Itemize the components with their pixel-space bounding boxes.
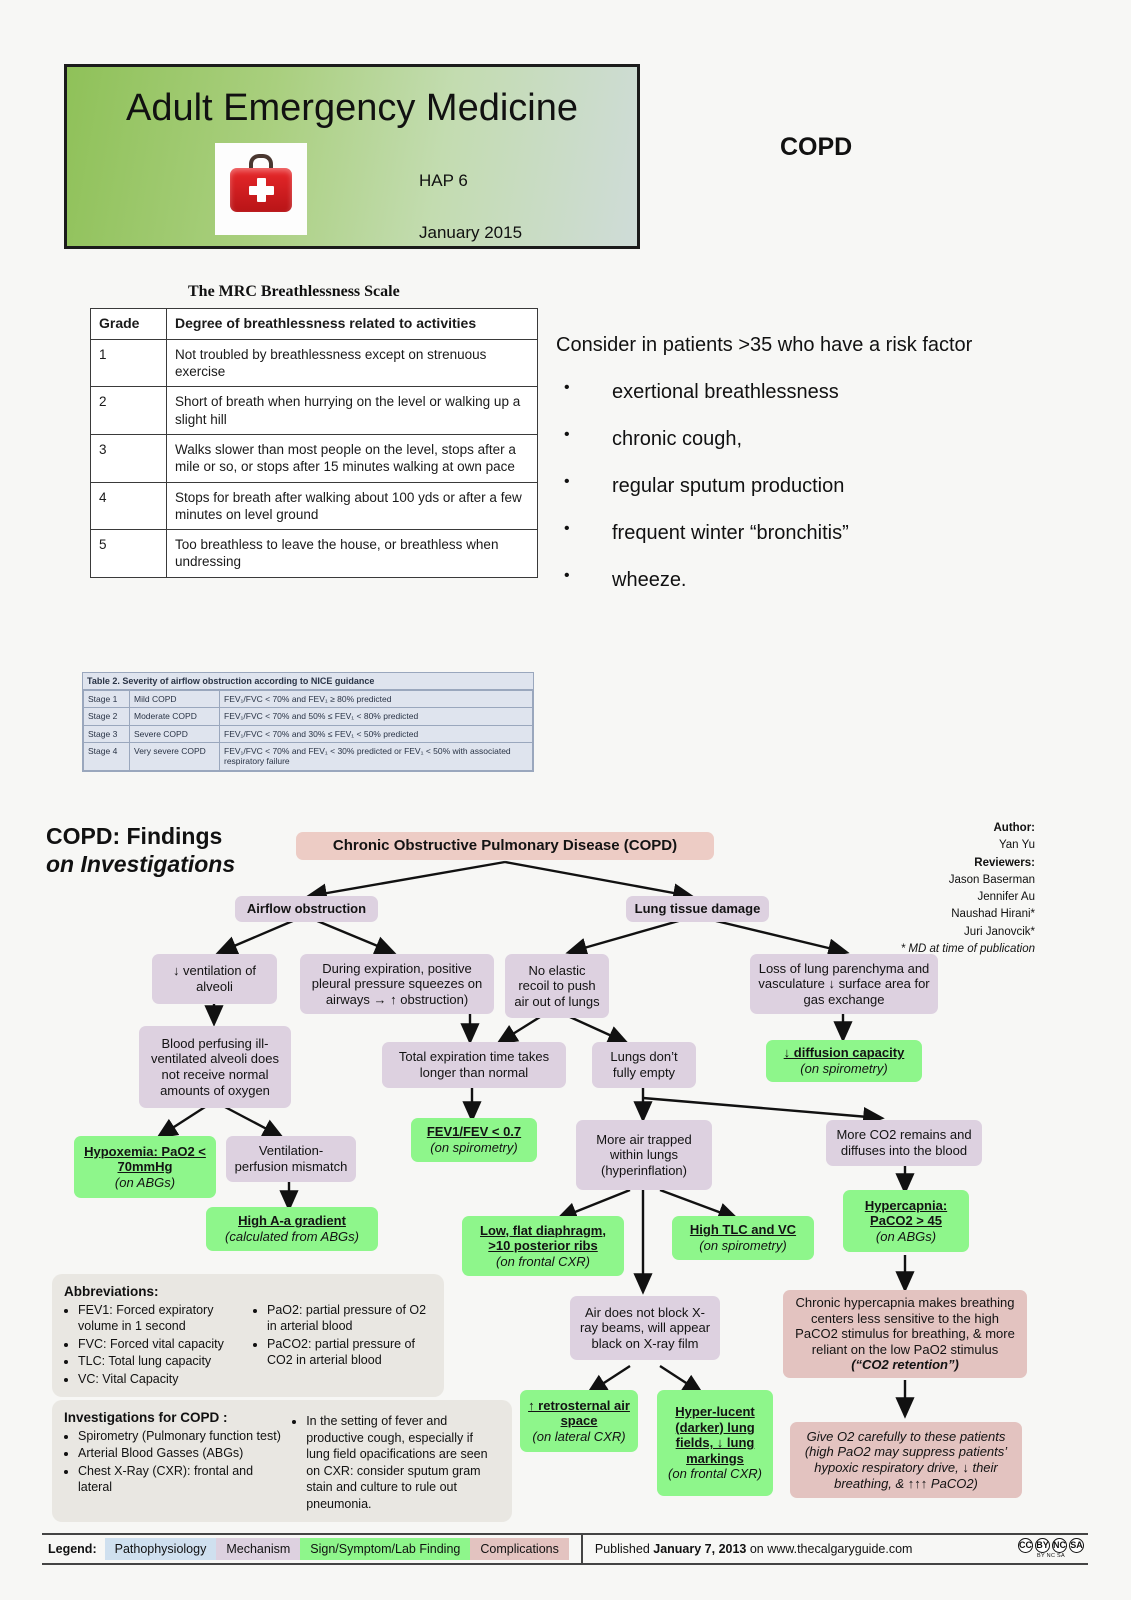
legend-chip-pathophysiology: Pathophysiology: [105, 1538, 217, 1560]
node-expiration-pleural-pressure: During expiration, positive pleural pres…: [300, 954, 494, 1014]
abbreviations-list-left: FEV1: Forced expiratory volume in 1 seco…: [64, 1302, 243, 1388]
node-hypercapnia-label: Hypercapnia: PaCO2 > 45: [851, 1198, 961, 1229]
node-diffusion-capacity: ↓ diffusion capacity (on spirometry): [766, 1040, 922, 1082]
cell-degree: Too breathless to leave the house, or br…: [167, 530, 538, 578]
cell-stage: Stage 4: [84, 743, 130, 771]
nice-table-caption: Table 2. Severity of airflow obstruction…: [83, 673, 533, 690]
consider-intro: Consider in patients >35 who have a risk…: [556, 335, 1026, 355]
cell-degree: Not troubled by breathlessness except on…: [167, 339, 538, 387]
mrc-breathlessness-table: Grade Degree of breathlessness related t…: [90, 308, 538, 578]
node-diffusion-capacity-label: ↓ diffusion capacity: [784, 1045, 905, 1061]
reviewer-name: Jason Baserman: [949, 874, 1035, 886]
column-header-grade: Grade: [91, 309, 167, 340]
publication-note: Published January 7, 2013 on www.thecalg…: [595, 1542, 913, 1556]
node-retrosternal-sub: (on lateral CXR): [532, 1429, 625, 1445]
node-vq-mismatch: Ventilation-perfusion mismatch: [226, 1136, 356, 1182]
cell-severity: Severe COPD: [130, 725, 220, 742]
cell-criteria: FEV₁/FVC < 70% and 50% ≤ FEV₁ < 80% pred…: [220, 708, 533, 725]
cell-degree: Walks slower than most people on the lev…: [167, 434, 538, 482]
abbreviations-box: Abbreviations: FEV1: Forced expiratory v…: [52, 1274, 444, 1397]
table-row: 1 Not troubled by breathlessness except …: [91, 339, 538, 387]
node-retrosternal-label: ↑ retrosternal air space: [528, 1398, 630, 1429]
node-fev-ratio-label: FEV1/FEV < 0.7: [427, 1124, 521, 1140]
node-a-a-gradient: High A-a gradient (calculated from ABGs): [206, 1207, 378, 1251]
legend-divider: [581, 1533, 583, 1565]
publication-prefix: Published: [595, 1542, 653, 1556]
mrc-table-title: The MRC Breathlessness Scale: [188, 283, 400, 301]
table-row: 2 Short of breath when hurrying on the l…: [91, 387, 538, 435]
poster-page: Adult Emergency Medicine HAP 6 January 2…: [0, 0, 1131, 1600]
node-no-elastic-recoil: No elastic recoil to push air out of lun…: [505, 954, 609, 1018]
legend-label: Legend:: [42, 1542, 105, 1556]
legend-chip-mechanism: Mechanism: [216, 1538, 300, 1560]
cc-badge: CC: [1018, 1538, 1033, 1553]
node-copd: Chronic Obstructive Pulmonary Disease (C…: [296, 832, 714, 860]
flowchart-title-line1: COPD: Findings: [46, 823, 222, 849]
author-footnote: * MD at time of publication: [901, 943, 1035, 955]
list-item: frequent winter “bronchitis”: [556, 523, 1026, 543]
list-item: PaO2: partial pressure of O2 in arterial…: [267, 1302, 432, 1335]
list-item: FVC: Forced vital capacity: [78, 1336, 243, 1353]
creative-commons-icon[interactable]: CC BY NC SA BY NC SA: [1018, 1538, 1084, 1560]
list-item: Arterial Blood Gasses (ABGs): [78, 1445, 282, 1462]
node-retrosternal-air-space: ↑ retrosternal air space (on lateral CXR…: [520, 1390, 638, 1452]
cell-grade: 2: [91, 387, 167, 435]
table-row: 3 Walks slower than most people on the l…: [91, 434, 538, 482]
flowchart-title: COPD: Findings on Investigations: [46, 822, 235, 878]
table-row: Stage 2 Moderate COPD FEV₁/FVC < 70% and…: [84, 708, 533, 725]
cell-severity: Mild COPD: [130, 691, 220, 708]
first-aid-kit-icon: [215, 143, 307, 235]
legend-bar: Legend: Pathophysiology Mechanism Sign/S…: [42, 1533, 1088, 1565]
node-total-expiration-time: Total expiration time takes longer than …: [382, 1042, 566, 1088]
node-hyperlucent-lung-fields: Hyper-lucent (darker) lung fields, ↓ lun…: [657, 1390, 773, 1496]
reviewer-name: Jennifer Au: [977, 891, 1035, 903]
table-row: Stage 3 Severe COPD FEV₁/FVC < 70% and 3…: [84, 725, 533, 742]
node-fev-ratio: FEV1/FEV < 0.7 (on spirometry): [411, 1118, 537, 1162]
investigations-list-left: Spirometry (Pulmonary function test) Art…: [64, 1428, 282, 1496]
list-item: PaCO2: partial pressure of CO2 in arteri…: [267, 1336, 432, 1369]
node-flat-diaphragm-sub: (on frontal CXR): [496, 1254, 590, 1270]
list-item: In the setting of fever and productive c…: [306, 1413, 500, 1512]
abbreviations-list-right: PaO2: partial pressure of O2 in arterial…: [253, 1302, 432, 1369]
legend-chip-sign-symptom: Sign/Symptom/Lab Finding: [300, 1538, 470, 1560]
course-code: HAP 6: [419, 155, 522, 207]
abbreviations-title: Abbreviations:: [64, 1283, 432, 1301]
investigations-title: Investigations for COPD :: [64, 1409, 282, 1427]
topic-title: COPD: [780, 133, 852, 162]
cell-stage: Stage 2: [84, 708, 130, 725]
table-header-row: Grade Degree of breathlessness related t…: [91, 309, 538, 340]
investigations-box: Investigations for COPD : Spirometry (Pu…: [52, 1400, 512, 1522]
flowchart-title-line2: on Investigations: [46, 851, 235, 877]
node-fev-ratio-sub: (on spirometry): [430, 1140, 517, 1156]
node-air-does-not-block-xray: Air does not block X-ray beams, will app…: [570, 1296, 720, 1360]
banner-title: Adult Emergency Medicine: [67, 67, 637, 130]
author-name: Yan Yu: [999, 839, 1035, 851]
node-blood-perfusing-alveoli: Blood perfusing ill-ventilated alveoli d…: [139, 1026, 291, 1108]
node-a-a-gradient-sub: (calculated from ABGs): [225, 1229, 359, 1245]
node-chronic-hypercapnia-sub: (“CO2 retention”): [851, 1357, 959, 1373]
legend-chip-complications: Complications: [470, 1538, 569, 1560]
cell-grade: 3: [91, 434, 167, 482]
banner-meta: HAP 6 January 2015: [419, 155, 522, 259]
reviewers-label: Reviewers:: [974, 857, 1035, 869]
table-row: Stage 4 Very severe COPD FEV₁/FVC < 70% …: [84, 743, 533, 771]
cell-degree: Short of breath when hurrying on the lev…: [167, 387, 538, 435]
list-item: chronic cough,: [556, 429, 1026, 449]
author-credits: Author: Yan Yu Reviewers: Jason Baserman…: [895, 820, 1035, 958]
column-header-degree: Degree of breathlessness related to acti…: [167, 309, 538, 340]
cell-stage: Stage 1: [84, 691, 130, 708]
cell-criteria: FEV₁/FVC < 70% and 30% ≤ FEV₁ < 50% pred…: [220, 725, 533, 742]
node-high-tlc-vc-sub: (on spirometry): [699, 1238, 786, 1254]
cc-caption: BY NC SA: [1037, 1554, 1065, 1560]
table-row: 5 Too breathless to leave the house, or …: [91, 530, 538, 578]
consider-block: Consider in patients >35 who have a risk…: [556, 335, 1026, 617]
cell-grade: 5: [91, 530, 167, 578]
cell-stage: Stage 3: [84, 725, 130, 742]
node-hyperlucent-sub: (on frontal CXR): [668, 1466, 762, 1482]
node-high-tlc-vc-label: High TLC and VC: [690, 1222, 796, 1238]
node-loss-of-parenchyma: Loss of lung parenchyma and vasculature …: [750, 954, 938, 1014]
node-lung-tissue-damage: Lung tissue damage: [626, 896, 769, 922]
node-give-o2-carefully: Give O2 carefully to these patients (hig…: [790, 1422, 1022, 1498]
node-hyperlucent-label: Hyper-lucent (darker) lung fields, ↓ lun…: [665, 1404, 765, 1466]
author-label: Author:: [993, 822, 1035, 834]
cell-severity: Very severe COPD: [130, 743, 220, 771]
investigations-list-right: In the setting of fever and productive c…: [292, 1413, 500, 1512]
cell-degree: Stops for breath after walking about 100…: [167, 482, 538, 530]
risk-factor-list: exertional breathlessness chronic cough,…: [556, 382, 1026, 590]
cell-criteria: FEV₁/FVC < 70% and FEV₁ ≥ 80% predicted: [220, 691, 533, 708]
header-banner: Adult Emergency Medicine HAP 6 January 2…: [64, 64, 640, 249]
cell-grade: 4: [91, 482, 167, 530]
node-hypoxemia-sub: (on ABGs): [115, 1175, 175, 1191]
list-item: exertional breathlessness: [556, 382, 1026, 402]
node-reduced-ventilation-alveoli: ↓ ventilation of alveoli: [152, 954, 277, 1004]
node-hypercapnia-sub: (on ABGs): [876, 1229, 936, 1245]
cc-by-badge: BY: [1035, 1538, 1050, 1553]
list-item: FEV1: Forced expiratory volume in 1 seco…: [78, 1302, 243, 1335]
reviewer-name: Naushad Hirani*: [951, 908, 1035, 920]
table-row: Stage 1 Mild COPD FEV₁/FVC < 70% and FEV…: [84, 691, 533, 708]
cell-severity: Moderate COPD: [130, 708, 220, 725]
list-item: VC: Vital Capacity: [78, 1371, 243, 1388]
publication-suffix: on www.thecalgaryguide.com: [746, 1542, 912, 1556]
node-a-a-gradient-label: High A-a gradient: [238, 1213, 346, 1229]
publication-date: January 7, 2013: [653, 1542, 746, 1556]
node-air-trapped-hyperinflation: More air trapped within lungs (hyperinfl…: [576, 1120, 712, 1190]
node-high-tlc-vc: High TLC and VC (on spirometry): [672, 1216, 814, 1260]
node-hypercapnia: Hypercapnia: PaCO2 > 45 (on ABGs): [843, 1190, 969, 1252]
list-item: regular sputum production: [556, 476, 1026, 496]
cc-nc-badge: NC: [1052, 1538, 1067, 1553]
node-more-co2-remains: More CO2 remains and diffuses into the b…: [826, 1120, 982, 1166]
list-item: wheeze.: [556, 570, 1026, 590]
node-diffusion-capacity-sub: (on spirometry): [800, 1061, 887, 1077]
node-flat-diaphragm-label: Low, flat diaphragm, >10 posterior ribs: [470, 1223, 616, 1254]
node-chronic-hypercapnia-text: Chronic hypercapnia makes breathing cent…: [791, 1295, 1019, 1357]
reviewer-name: Juri Janovcik*: [964, 926, 1035, 938]
publication-month: January 2015: [419, 207, 522, 259]
node-flat-diaphragm: Low, flat diaphragm, >10 posterior ribs …: [462, 1216, 624, 1276]
cc-sa-badge: SA: [1069, 1538, 1084, 1553]
list-item: Spirometry (Pulmonary function test): [78, 1428, 282, 1445]
node-airflow-obstruction: Airflow obstruction: [235, 896, 378, 922]
table-row: 4 Stops for breath after walking about 1…: [91, 482, 538, 530]
cell-criteria: FEV₁/FVC < 70% and FEV₁ < 30% predicted …: [220, 743, 533, 771]
nice-severity-table: Table 2. Severity of airflow obstruction…: [82, 672, 534, 772]
cell-grade: 1: [91, 339, 167, 387]
list-item: Chest X-Ray (CXR): frontal and lateral: [78, 1463, 282, 1496]
node-lungs-dont-fully-empty: Lungs don’t fully empty: [592, 1042, 696, 1088]
list-item: TLC: Total lung capacity: [78, 1353, 243, 1370]
node-chronic-hypercapnia: Chronic hypercapnia makes breathing cent…: [783, 1290, 1027, 1378]
node-hypoxemia-label: Hypoxemia: PaO2 < 70mmHg: [82, 1144, 208, 1175]
node-hypoxemia: Hypoxemia: PaO2 < 70mmHg (on ABGs): [74, 1136, 216, 1198]
